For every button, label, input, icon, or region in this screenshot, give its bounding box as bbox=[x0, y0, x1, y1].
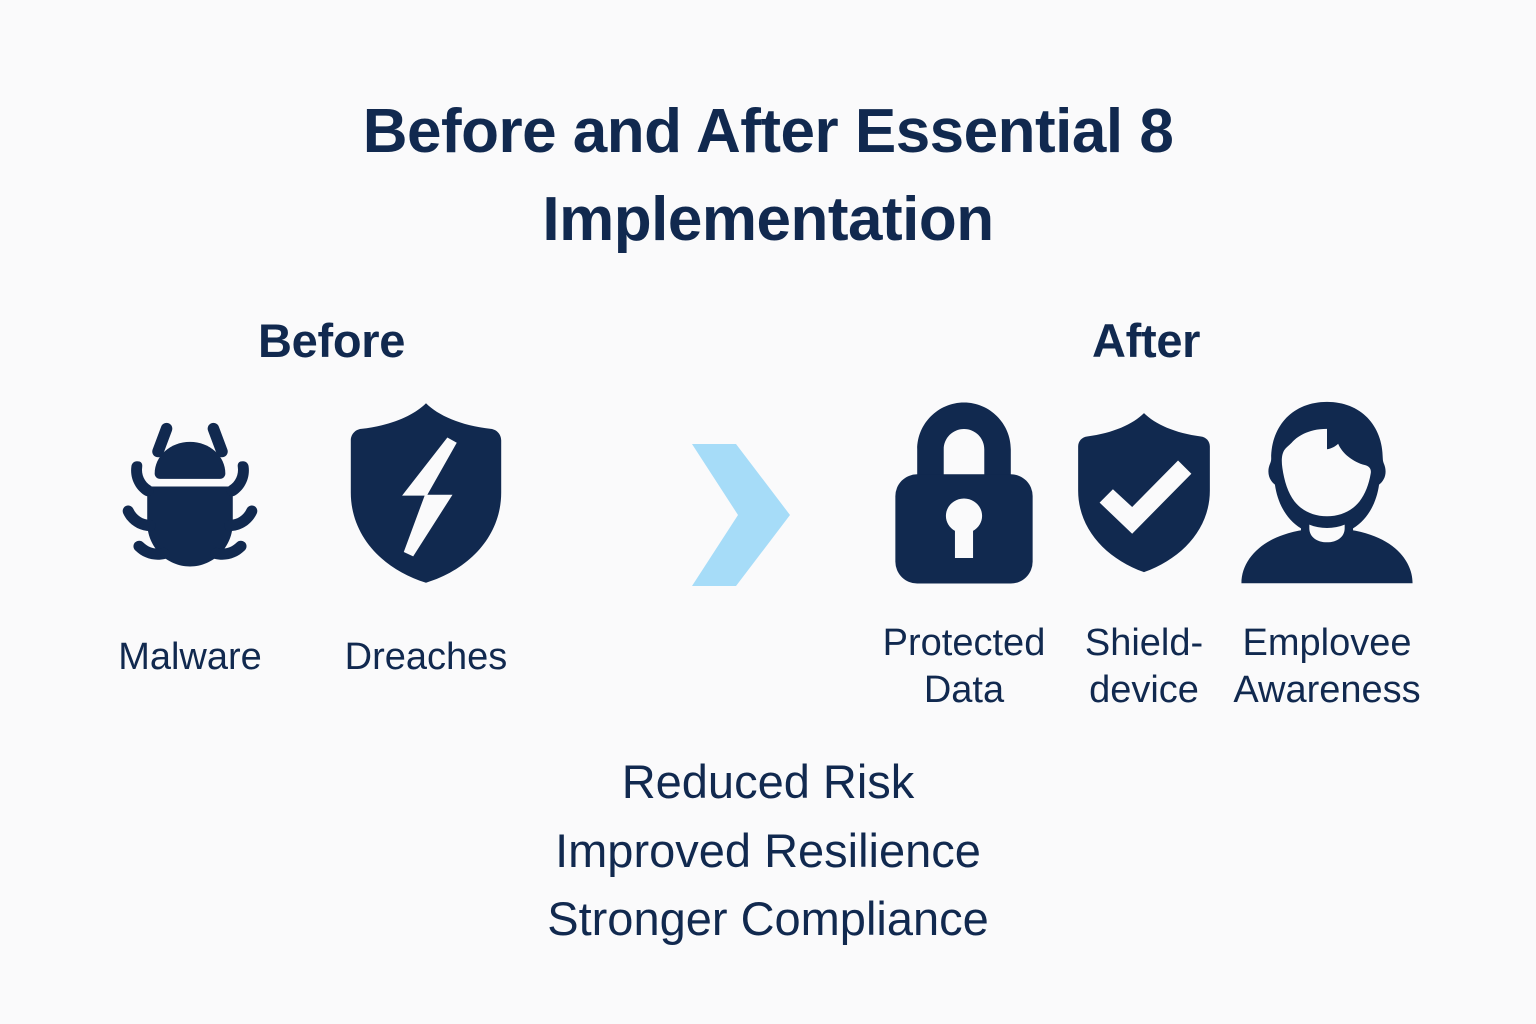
before-item-breaches-label: Dreaches bbox=[345, 634, 508, 681]
after-item-shield-device: Shield-device bbox=[1070, 398, 1218, 714]
padlock-icon-container bbox=[886, 398, 1042, 588]
page-title: Before and After Essential 8 Implementat… bbox=[268, 88, 1268, 264]
page-title-line-2: Implementation bbox=[268, 176, 1268, 264]
after-item-employee-awareness: Emplovee Awareness bbox=[1218, 398, 1436, 714]
shield-check-icon bbox=[1070, 397, 1218, 589]
bug-icon-container bbox=[97, 398, 283, 588]
shield-check-icon-container bbox=[1070, 398, 1218, 588]
person-icon-container bbox=[1234, 398, 1420, 588]
chevron-right-icon bbox=[686, 440, 796, 590]
before-item-malware: Malware bbox=[72, 398, 308, 681]
shield-lightning-icon bbox=[340, 399, 512, 587]
outcomes-list: Reduced Risk Improved Resilience Stronge… bbox=[368, 748, 1168, 954]
outcome-item-3: Stronger Compliance bbox=[368, 885, 1168, 954]
after-item-shield-device-label: Shield-device bbox=[1070, 620, 1218, 714]
bug-icon bbox=[97, 400, 283, 586]
infographic-canvas: Before and After Essential 8 Implementat… bbox=[0, 0, 1536, 1024]
before-item-malware-label: Malware bbox=[118, 634, 262, 681]
after-group: Protected Data Shield-device bbox=[858, 398, 1436, 714]
person-icon bbox=[1234, 398, 1420, 588]
after-item-employee-awareness-label: Emplovee Awareness bbox=[1218, 620, 1436, 714]
before-item-breaches: Dreaches bbox=[308, 398, 544, 681]
outcome-item-1: Reduced Risk bbox=[368, 748, 1168, 817]
padlock-icon bbox=[886, 399, 1042, 587]
shield-lightning-icon-container bbox=[340, 398, 512, 588]
transition-arrow bbox=[686, 440, 796, 590]
after-item-protected-data: Protected Data bbox=[858, 398, 1070, 714]
page-title-line-1: Before and After Essential 8 bbox=[268, 88, 1268, 176]
outcome-item-2: Improved Resilience bbox=[368, 817, 1168, 886]
after-item-protected-data-label: Protected Data bbox=[858, 620, 1070, 714]
column-header-after: After bbox=[1092, 313, 1200, 368]
before-group: Malware Dreaches bbox=[72, 398, 544, 681]
column-header-before: Before bbox=[258, 313, 405, 368]
